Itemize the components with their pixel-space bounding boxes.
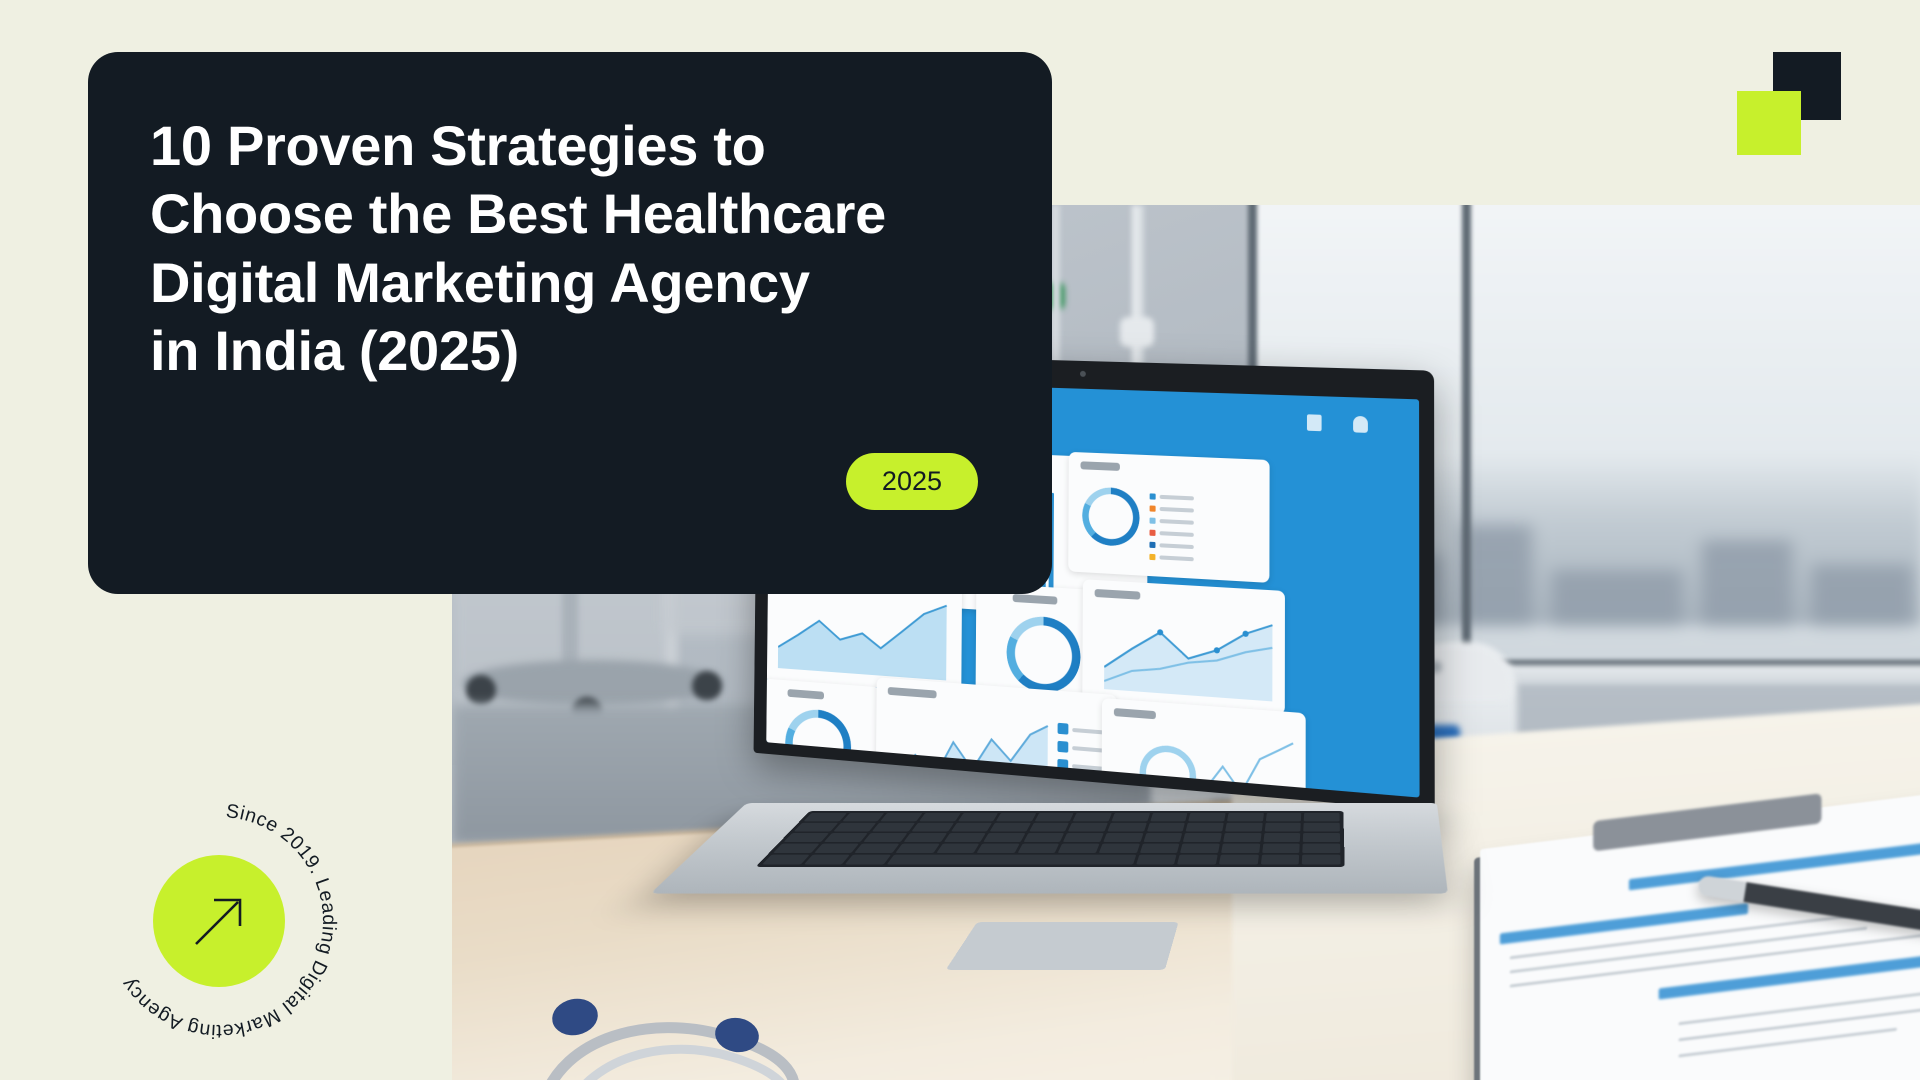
stethoscope	[452, 895, 952, 1080]
chart-icon	[1307, 414, 1322, 431]
decor-squares	[1737, 52, 1857, 162]
laptop-trackpad	[946, 922, 1179, 970]
dashboard-card-conversions	[766, 678, 881, 797]
year-badge[interactable]: 2025	[846, 453, 978, 510]
iv-pole-knob	[1120, 317, 1154, 347]
webcam-icon	[1080, 371, 1086, 377]
decor-square-lime	[1737, 91, 1801, 155]
title-line-1: 10 Proven Strategies to	[150, 112, 990, 180]
lock-icon	[1353, 416, 1368, 433]
dashboard-card-performance-donut	[1068, 452, 1269, 583]
dashboard-card-sessions	[1101, 698, 1305, 798]
dashboard-card-performance-area	[876, 677, 1117, 797]
window-mullion	[1462, 205, 1471, 675]
title-line-3: Digital Marketing Agency	[150, 249, 990, 317]
laptop-keyboard	[756, 811, 1345, 867]
page-title: 10 Proven Strategies to Choose the Best …	[150, 112, 990, 385]
stool-caster	[466, 675, 496, 705]
title-line-4: in India (2025)	[150, 317, 990, 385]
title-card: 10 Proven Strategies to Choose the Best …	[88, 52, 1052, 594]
title-line-2: Choose the Best Healthcare	[150, 180, 990, 248]
circular-tagline-badge[interactable]: Since 2019. Leading Digital Marketing Ag…	[98, 800, 340, 1042]
arrow-up-right-icon	[188, 890, 250, 952]
